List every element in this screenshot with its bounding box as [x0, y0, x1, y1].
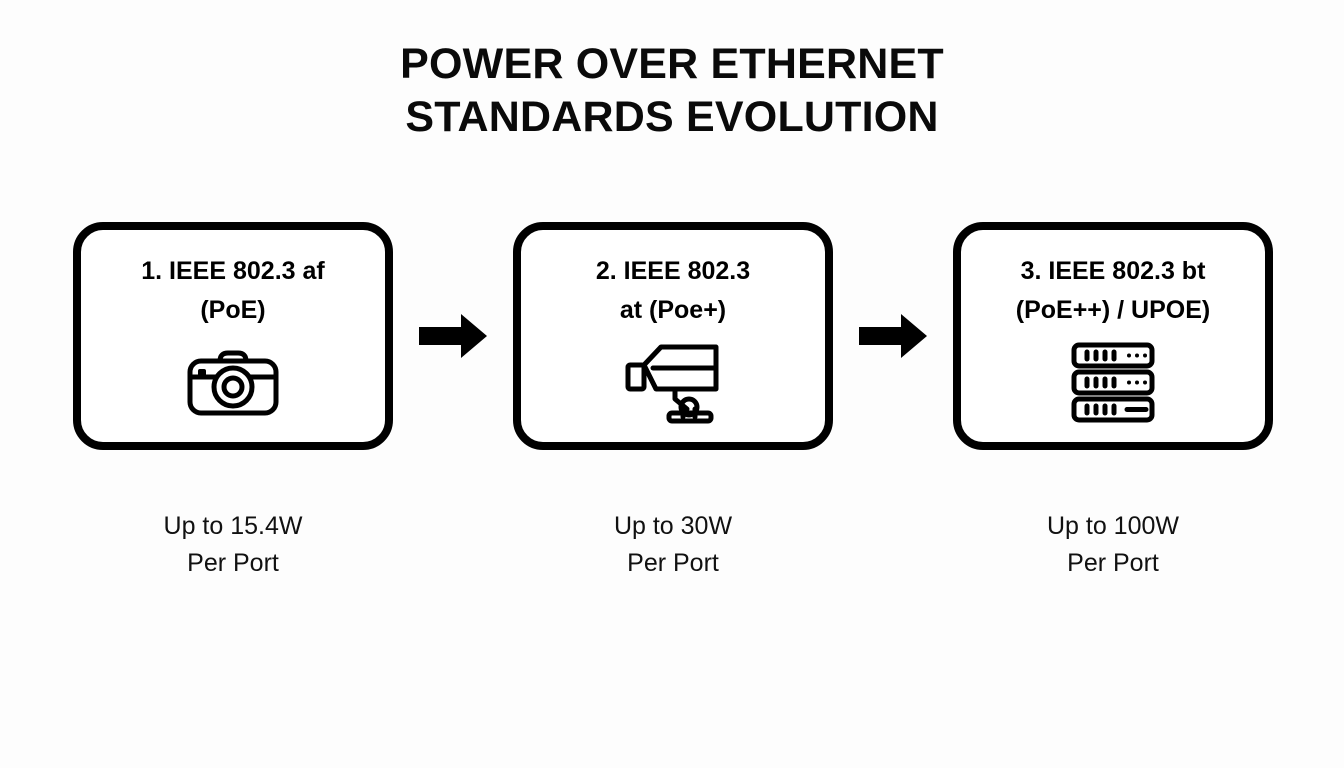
stage-3-caption-line-2: Per Port [953, 545, 1273, 582]
stage-1-title-line-2: (PoE) [200, 291, 265, 330]
stage-box-3[interactable]: 3. IEEE 802.3 bt (PoE++) / UPOE) [953, 222, 1273, 450]
photo-camera-icon [179, 342, 287, 424]
arrow-right-icon-1 [419, 314, 487, 358]
page-title: POWER OVER ETHERNET STANDARDS EVOLUTION [0, 38, 1344, 144]
page-title-line-2: STANDARDS EVOLUTION [0, 91, 1344, 144]
caption-row: Up to 15.4W Per Port Up to 30W Per Port … [73, 508, 1273, 588]
stage-2-caption-line-1: Up to 30W [513, 508, 833, 545]
stage-2-title-line-2: at (Poe+) [620, 291, 726, 330]
stage-3-title-line-1: 3. IEEE 802.3 bt [1021, 252, 1206, 291]
stage-3-caption: Up to 100W Per Port [953, 508, 1273, 582]
stage-box-2[interactable]: 2. IEEE 802.3 at (Poe+) [513, 222, 833, 450]
poe-standards-evolution-slide: POWER OVER ETHERNET STANDARDS EVOLUTION … [0, 0, 1344, 768]
stage-box-1[interactable]: 1. IEEE 802.3 af (PoE) [73, 222, 393, 450]
stage-flow-row: 1. IEEE 802.3 af (PoE) 2 [73, 222, 1273, 450]
page-title-line-1: POWER OVER ETHERNET [0, 38, 1344, 91]
stage-3-caption-line-1: Up to 100W [953, 508, 1273, 545]
arrow-right-icon-2 [859, 314, 927, 358]
stage-2-title-line-1: 2. IEEE 802.3 [596, 252, 750, 291]
stage-3-title-line-2: (PoE++) / UPOE) [1016, 291, 1210, 330]
stage-1-caption-line-2: Per Port [73, 545, 393, 582]
server-rack-icon [1059, 342, 1167, 424]
stage-2-caption-line-2: Per Port [513, 545, 833, 582]
stage-1-caption: Up to 15.4W Per Port [73, 508, 393, 582]
stage-1-caption-line-1: Up to 15.4W [73, 508, 393, 545]
stage-1-title-line-1: 1. IEEE 802.3 af [141, 252, 324, 291]
cctv-camera-icon [619, 342, 727, 424]
stage-2-caption: Up to 30W Per Port [513, 508, 833, 582]
